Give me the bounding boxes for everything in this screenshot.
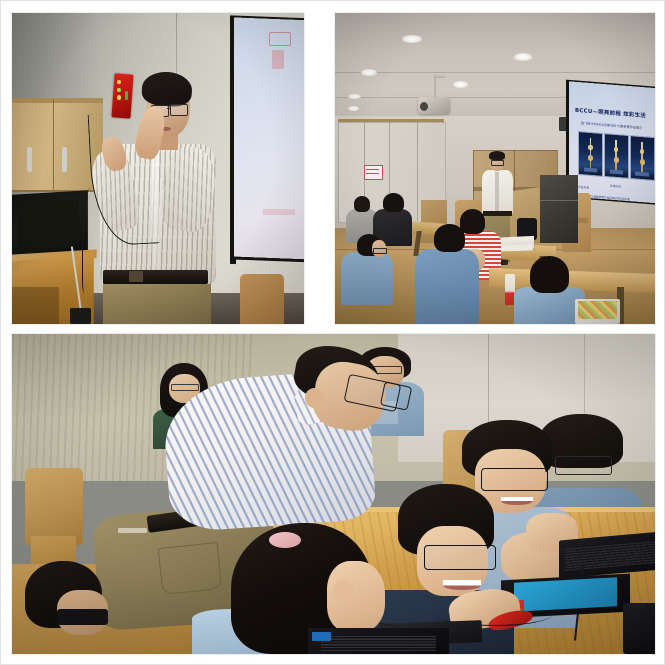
photo-classroom[interactable]: BCCU—照亮前程 炫彩生活 致飞思卡尔MCU创新设计大赛参赛作品展示: [335, 13, 655, 324]
ceiling-downlight: [453, 81, 468, 87]
slide-image-row: [578, 131, 655, 181]
student-eyeglasses: [481, 468, 547, 491]
presenter-belt: [103, 270, 208, 284]
photo-presenter[interactable]: [12, 13, 304, 324]
trouser-brand-label: [118, 528, 147, 533]
ceiling-downlight: [361, 69, 378, 76]
projector-mount-bracket: [434, 76, 445, 78]
photo-lab[interactable]: [12, 334, 655, 654]
projection-screen: [234, 18, 304, 260]
speaker-eyeglasses: [491, 160, 504, 165]
tower-sphere-lower: [640, 160, 646, 166]
eyeglasses-bridge: [167, 108, 171, 109]
tower-sphere-upper: [640, 150, 644, 154]
snack-contents: [578, 301, 616, 320]
seated-student-head: [383, 193, 404, 212]
wooden-chair: [25, 468, 83, 545]
tower-shape: [590, 138, 592, 168]
student-eyeglasses: [424, 545, 497, 569]
tower-shape: [642, 142, 644, 172]
wall-sign-text-line: [366, 173, 380, 174]
foreground-student-head: [530, 256, 568, 293]
module-led-strip: [125, 91, 129, 100]
tower-sphere-upper: [615, 148, 619, 152]
podium-shadow: [12, 287, 59, 324]
microphone-base: [70, 308, 90, 324]
ceiling-seam-1: [335, 72, 655, 73]
eyeglasses-right-lens: [170, 104, 188, 116]
slide-thumbnail: [604, 133, 629, 178]
classroom-scene: BCCU—照亮前程 炫彩生活 致飞思卡尔MCU创新设计大赛参赛作品展示: [335, 13, 655, 324]
student-eyeglasses: [57, 609, 108, 625]
lab-scene: [12, 334, 655, 654]
ceiling-downlight: [402, 35, 422, 43]
trouser-pocket: [158, 542, 222, 595]
foreground-student-body: [415, 249, 479, 324]
laptop-keyboard: [321, 635, 437, 651]
tower-shape: [616, 140, 618, 170]
presenter-scene: [12, 13, 304, 324]
foreground-student-head: [434, 224, 464, 252]
photo-collage: BCCU—照亮前程 炫彩生活 致飞思卡尔MCU创新设计大赛参赛作品展示: [0, 0, 665, 665]
ponytail-girl-ear: [334, 580, 355, 599]
seated-student-head: [354, 196, 370, 212]
cabinet-handle-right: [62, 147, 67, 172]
slide-thumbnail: [578, 131, 603, 176]
dark-equipment: [623, 603, 655, 654]
cabinet-door-seam: [53, 100, 55, 190]
wooden-chair: [240, 274, 284, 324]
wall-sign-text-line: [366, 169, 380, 170]
equipment-rack: [540, 175, 578, 243]
tower-sphere-lower: [614, 157, 620, 163]
laptop-screen: [18, 200, 79, 253]
speaker-shirt-placket: [495, 172, 499, 212]
belt-buckle: [129, 271, 144, 282]
partition-seam: [417, 122, 418, 222]
presenter-trousers: [103, 280, 211, 324]
tower-base-glow: [584, 168, 598, 173]
screen-red-block: [272, 50, 284, 69]
woman-eyeglasses: [171, 384, 199, 392]
seated-student-body: [341, 252, 392, 305]
device-cable-lower: [82, 187, 106, 293]
student-eyeglasses: [373, 248, 387, 254]
tower-sphere-lower: [588, 155, 594, 161]
seated-student-head: [460, 209, 486, 234]
module-led-3: [117, 95, 121, 99]
instructor-ear: [305, 388, 324, 407]
ceiling-downlight: [348, 106, 359, 111]
cabinet-top-edge: [12, 98, 103, 103]
laptop-logo-badge: [312, 632, 331, 642]
red-electronic-module: [111, 73, 133, 118]
speaker-belt: [483, 211, 512, 216]
rack-shelf: [540, 200, 578, 201]
tower-sphere-upper: [589, 146, 593, 150]
screen-red-outline: [269, 32, 291, 46]
tower-base-glow: [636, 172, 650, 177]
tower-base-glow: [610, 170, 624, 175]
student-smile: [443, 580, 482, 590]
ceiling-downlight: [514, 53, 532, 60]
screen-pink-line: [263, 209, 295, 215]
cabinet-handle-left: [27, 147, 32, 172]
slide-thumbnail: [630, 135, 655, 180]
student-eyeglasses: [555, 456, 612, 476]
speaker-hair: [489, 151, 504, 160]
